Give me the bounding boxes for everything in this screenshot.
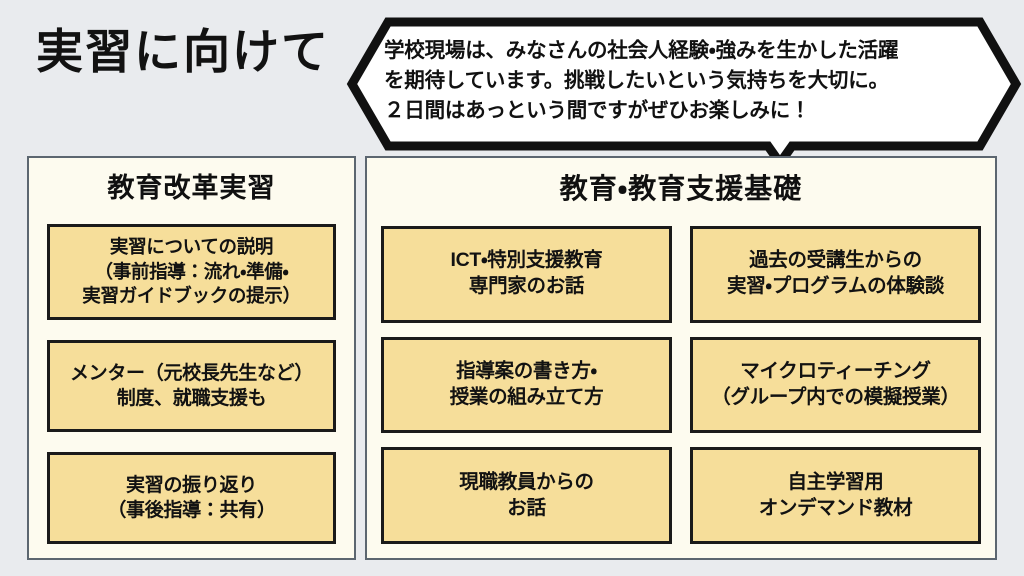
panel-right-title: 教育・教育支援基礎 <box>367 172 995 206</box>
card-right-2[interactable]: 過去の受講生からの 実習・プログラムの体験談 <box>690 226 981 323</box>
panel-left-title: 教育改革実習 <box>29 172 354 204</box>
panel-right-card-grid: ICT・特別支援教育 専門家のお話 過去の受講生からの 実習・プログラムの体験談… <box>381 226 981 544</box>
panel-left-card-list: 実習についての説明 （事前指導：流れ・準備・ 実習ガイドブックの提示） メンター… <box>47 224 336 544</box>
card-right-1[interactable]: ICT・特別支援教育 専門家のお話 <box>381 226 672 323</box>
slide-canvas: 実習に向けて 学校現場は、みなさんの社会人経験・強みを生かした活躍 を期待してい… <box>0 0 1024 576</box>
page-title: 実習に向けて <box>36 26 330 78</box>
card-right-4[interactable]: マイクロティーチング （グループ内での模擬授業） <box>690 337 981 434</box>
panel-education-reform: 教育改革実習 実習についての説明 （事前指導：流れ・準備・ 実習ガイドブックの提… <box>27 156 356 560</box>
card-right-6[interactable]: 自主学習用 オンデマンド教材 <box>690 447 981 544</box>
card-left-3[interactable]: 実習の振り返り （事後指導：共有） <box>47 452 336 544</box>
speech-bubble-text: 学校現場は、みなさんの社会人経験・強みを生かした活躍 を期待しています。挑戦した… <box>384 36 980 126</box>
card-right-5[interactable]: 現職教員からの お話 <box>381 447 672 544</box>
card-left-2[interactable]: メンター（元校長先生など） 制度、就職支援も <box>47 340 336 432</box>
speech-bubble: 学校現場は、みなさんの社会人経験・強みを生かした活躍 を期待しています。挑戦した… <box>352 10 1016 146</box>
card-left-1[interactable]: 実習についての説明 （事前指導：流れ・準備・ 実習ガイドブックの提示） <box>47 224 336 320</box>
panel-education-support-basics: 教育・教育支援基礎 ICT・特別支援教育 専門家のお話 過去の受講生からの 実習… <box>365 156 997 560</box>
card-right-3[interactable]: 指導案の書き方・ 授業の組み立て方 <box>381 337 672 434</box>
